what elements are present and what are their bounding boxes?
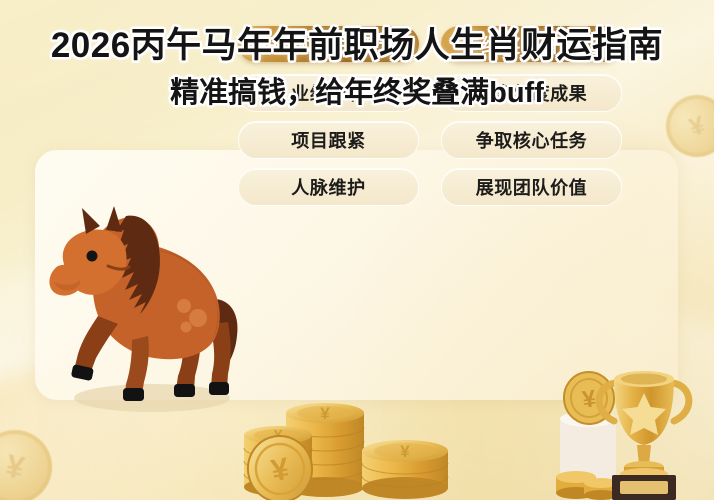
yen-symbol: ¥ xyxy=(2,447,27,487)
page-subtitle: 精准搞钱，给年终奖叠满buff xyxy=(0,77,714,110)
poster-canvas: ¥ ¥ 2026丙午马年年前职场人生肖财运指南 精准搞钱，给年终奖叠满buff xyxy=(0,0,714,500)
list-item[interactable]: 争取核心任务 xyxy=(441,121,622,159)
gold-coin-stacks-icon: ¥ ¥ ¥ xyxy=(236,395,466,500)
yen-symbol: ¥ xyxy=(685,109,708,143)
list-item[interactable]: 展现团队价值 xyxy=(441,168,622,206)
svg-text:¥: ¥ xyxy=(320,404,330,423)
horse-illustration xyxy=(34,190,249,420)
title-block: 2026丙午马年年前职场人生肖财运指南 精准搞钱，给年终奖叠满buff xyxy=(0,26,714,111)
list-item[interactable]: 人脉维护 xyxy=(238,168,419,206)
page-title: 2026丙午马年年前职场人生肖财运指南 xyxy=(0,26,714,66)
svg-text:¥: ¥ xyxy=(400,442,410,461)
background-coin-icon-bottom-left: ¥ xyxy=(0,423,59,500)
gold-trophy-icon: ¥ xyxy=(556,355,712,500)
list-item[interactable]: 项目跟紧 xyxy=(238,121,419,159)
